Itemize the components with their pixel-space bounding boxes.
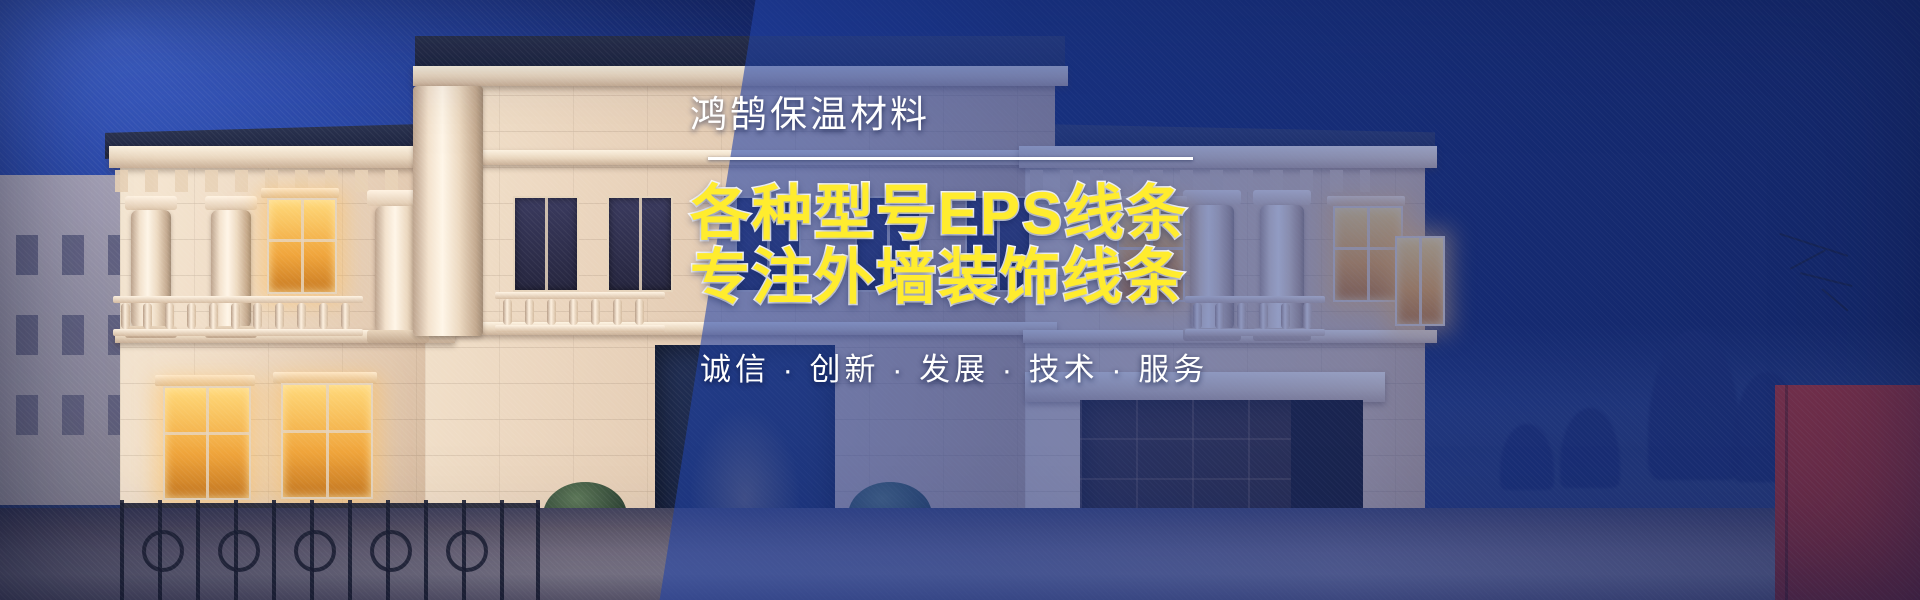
banner-copy: 鸿鹄保温材料 各种型号EPS线条 专注外墙装饰线条 诚信 · 创新 · 发展 ·… [690,96,1330,389]
window-lit [1395,236,1445,326]
balustrade-left [113,296,363,336]
window-hood [273,372,377,383]
cornice-left-top [109,146,453,168]
balustrade-center [495,292,665,332]
window-hood [261,188,339,198]
brand-name: 鸿鹄保温材料 [690,96,1330,133]
column-capital [205,196,257,210]
column-capital [125,196,177,210]
cornice-center-top [413,66,1068,86]
headline: 各种型号EPS线条 专注外墙装饰线条 [690,182,1330,310]
divider-rule [708,157,1193,160]
window-dark [513,196,579,292]
iron-fence [120,495,540,600]
window-lit [267,198,337,294]
window-hood [155,375,255,386]
red-panel [1775,385,1920,600]
headline-line-2: 专注外墙装饰线条 [690,246,1330,310]
window-lit [163,386,251,500]
window-lit [1333,206,1403,302]
tagline: 诚信 · 创新 · 发展 · 技术 · 服务 [700,344,1330,389]
window-dark [607,196,673,292]
window-lit [281,383,373,499]
hero-banner: 鸿鹄保温材料 各种型号EPS线条 专注外墙装饰线条 诚信 · 创新 · 发展 ·… [0,0,1920,600]
roof-center [415,36,1065,70]
headline-line-1: 各种型号EPS线条 [690,180,1188,247]
window-hood [1327,196,1405,206]
pilaster-major [413,86,483,336]
